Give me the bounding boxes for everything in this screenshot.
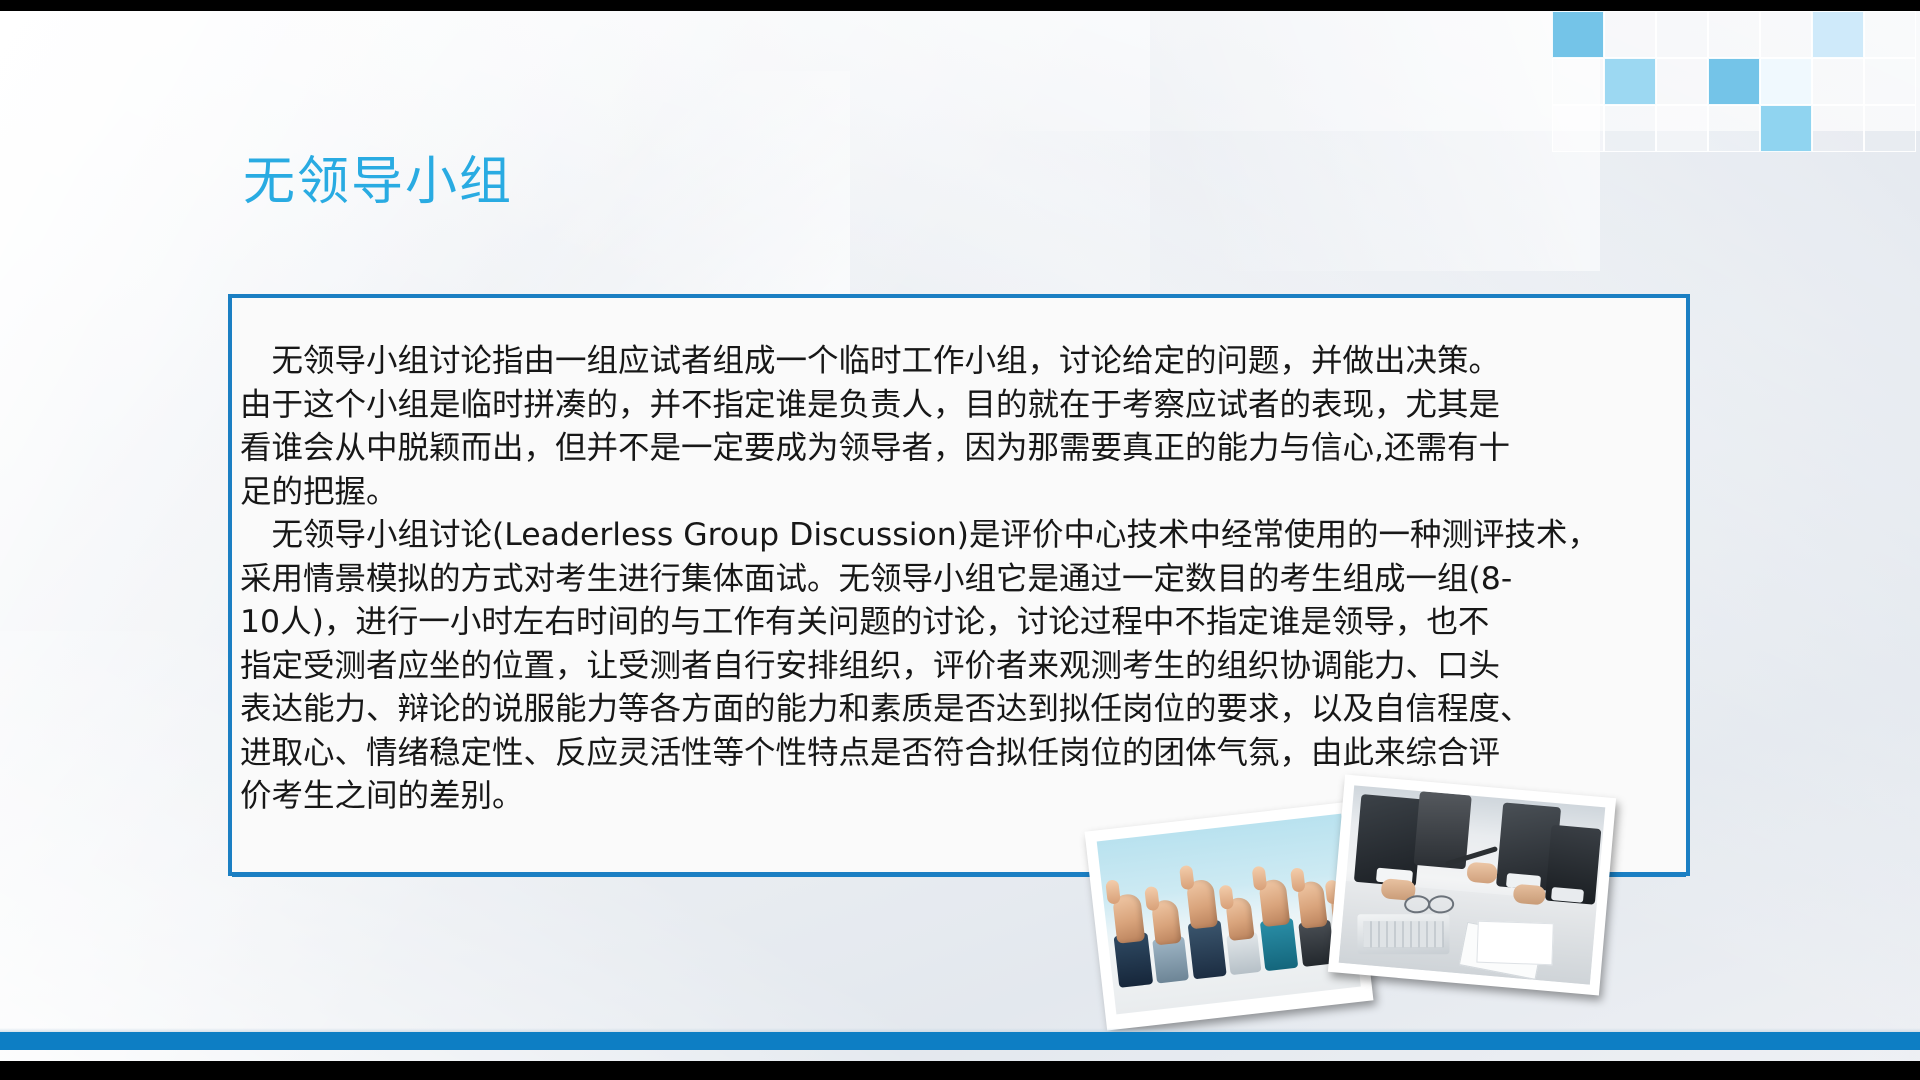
background-facet (1000, 11, 1600, 271)
mosaic-square (1864, 105, 1916, 152)
body-text-line: 无领导小组讨论指由一组应试者组成一个临时工作小组，讨论给定的问题，并做出决策。 (236, 340, 1688, 384)
mosaic-square (1760, 58, 1812, 105)
mosaic-square (1812, 105, 1864, 152)
square-mosaic (1552, 11, 1920, 167)
mosaic-square (1604, 58, 1656, 105)
slide-frame: 无领导小组 无领导小组讨论指由一组应试者组成一个临时工作小组，讨论给定的问题，并… (0, 0, 1920, 1080)
body-text-line: 采用情景模拟的方式对考生进行集体面试。无领导小组它是通过一定数目的考生组成一组(… (236, 558, 1688, 602)
meeting-photo-image (1339, 785, 1606, 984)
body-text: 无领导小组讨论指由一组应试者组成一个临时工作小组，讨论给定的问题，并做出决策。由… (236, 340, 1688, 819)
thumbs-up-photo-image (1097, 814, 1361, 1015)
mosaic-square (1812, 58, 1864, 105)
mosaic-square (1656, 11, 1708, 58)
mosaic-square (1604, 105, 1656, 152)
meeting-photo (1328, 775, 1616, 996)
page-title: 无领导小组 (243, 154, 513, 211)
body-text-line: 10人)，进行一小时左右时间的与工作有关问题的讨论，讨论过程中不指定谁是领导，也… (236, 601, 1688, 645)
mosaic-square (1708, 11, 1760, 58)
mosaic-square (1812, 11, 1864, 58)
mosaic-square (1656, 58, 1708, 105)
slide-canvas: 无领导小组 无领导小组讨论指由一组应试者组成一个临时工作小组，讨论给定的问题，并… (0, 11, 1920, 1061)
body-text-line: 无领导小组讨论(Leaderless Group Discussion)是评价中… (236, 514, 1688, 558)
body-text-line: 足的把握。 (236, 471, 1688, 515)
mosaic-square (1604, 11, 1656, 58)
mosaic-square (1552, 11, 1604, 58)
body-text-line: 进取心、情绪稳定性、反应灵活性等个性特点是否符合拟任岗位的团体气氛，由此来综合评 (236, 732, 1688, 776)
mosaic-square (1552, 58, 1604, 105)
mosaic-square (1708, 105, 1760, 152)
body-text-line: 表达能力、辩论的说服能力等各方面的能力和素质是否达到拟任岗位的要求，以及自信程度… (236, 688, 1688, 732)
bottom-accent-bar (0, 1032, 1920, 1050)
mosaic-square (1552, 105, 1604, 152)
body-text-line: 指定受测者应坐的位置，让受测者自行安排组织，评价者来观测考生的组织协调能力、口头 (236, 645, 1688, 689)
body-text-line: 由于这个小组是临时拼凑的，并不指定谁是负责人，目的就在于考察应试者的表现，尤其是 (236, 384, 1688, 428)
thumbs-up-photo (1085, 801, 1374, 1030)
body-text-line: 看谁会从中脱颖而出，但并不是一定要成为领导者，因为那需要真正的能力与信心,还需有… (236, 427, 1688, 471)
mosaic-square (1656, 105, 1708, 152)
mosaic-square (1760, 11, 1812, 58)
mosaic-square (1760, 105, 1812, 152)
mosaic-square (1708, 58, 1760, 105)
mosaic-square (1864, 11, 1916, 58)
mosaic-square (1864, 58, 1916, 105)
